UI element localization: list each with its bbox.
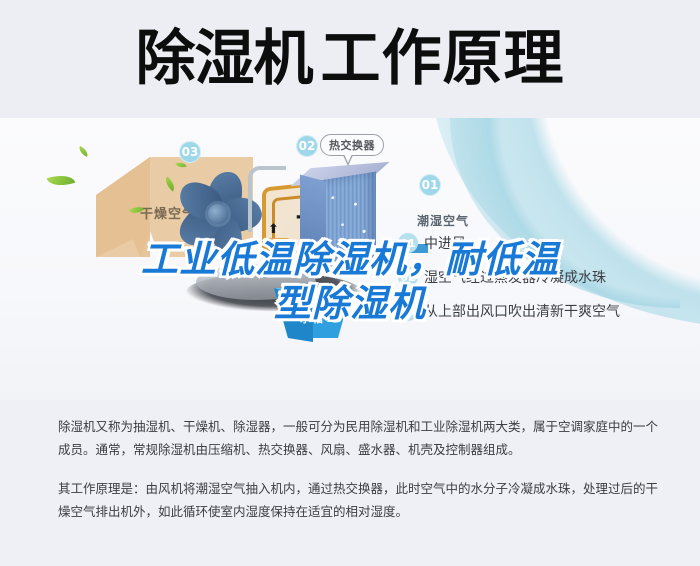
title-band: 除湿机工作原理 — [0, 0, 700, 118]
diagram-badge-02: 02 — [296, 135, 318, 157]
heat-exchanger-callout: 热交换器 — [320, 134, 384, 156]
list-item: 02 湿空气经过蒸发器冷凝成水珠 — [398, 260, 698, 294]
list-item: 03 从上部出风口吹出清新干爽空气 — [398, 294, 698, 328]
steps-list: 01 中进风 02 湿空气经过蒸发器冷凝成水珠 03 从上部出风口吹出清新干爽空… — [398, 226, 698, 328]
page-title-part1: 除湿机 — [136, 24, 313, 94]
step-text: 中进风 — [424, 233, 466, 253]
page-title: 除湿机工作原理 — [0, 26, 700, 92]
diagram-badge-03: 03 — [179, 141, 201, 163]
list-item: 01 中进风 — [398, 226, 698, 260]
step-number: 03 — [398, 301, 418, 321]
step-number: 02 — [398, 267, 418, 287]
condensation-droplets — [322, 176, 376, 269]
flow-arrow-up-icon: ⬆ — [268, 222, 279, 235]
page-root: 除湿机工作原理 干燥空气 ➡ ⬆ — [0, 0, 700, 566]
body-paragraph-1: 除湿机又称为抽湿机、干燥机、除湿器，一般可分为民用除湿机和工业除湿机两大类，属于… — [58, 415, 658, 461]
step-number: 01 — [398, 233, 418, 253]
step-text: 湿空气经过蒸发器冷凝成水珠 — [424, 267, 606, 287]
body-paragraph-2: 其工作原理是：由风机将潮湿空气抽入机内，通过热交换器，此时空气中的水分子冷凝成水… — [58, 477, 658, 523]
fan-hub — [208, 204, 228, 224]
page-title-part2: 工作原理 — [321, 24, 565, 94]
step-text: 从上部出风口吹出清新干爽空气 — [424, 301, 620, 321]
principle-illustration: 干燥空气 ➡ ⬆ ⬇ — [0, 118, 700, 400]
water-tank-label: 水箱 — [300, 310, 324, 326]
leaf-icon — [47, 170, 76, 190]
body-copy: 除湿机又称为抽湿机、干燥机、除湿器，一般可分为民用除湿机和工业除湿机两大类，属于… — [58, 415, 658, 523]
diagram-badge-01: 01 — [419, 174, 441, 196]
